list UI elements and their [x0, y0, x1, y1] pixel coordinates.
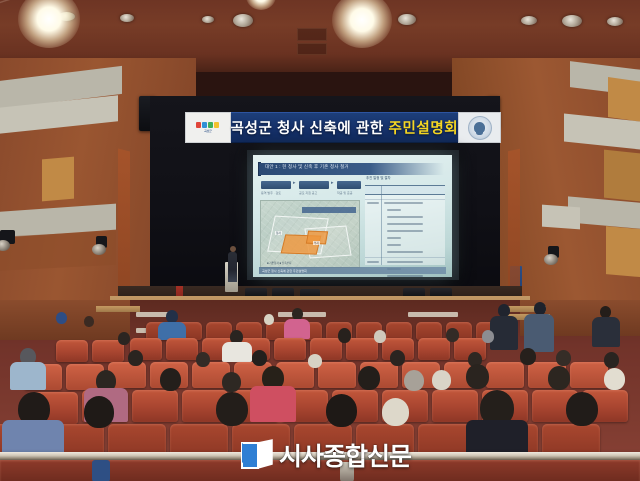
ceiling-vent: [297, 28, 327, 41]
aisle-step: [96, 306, 140, 312]
accent-panel: [608, 77, 640, 123]
table-row: [387, 209, 401, 211]
event-banner: 곡성군 곡성군 청사 신축에 관한 주민설명회: [185, 112, 501, 143]
seat[interactable]: [318, 362, 356, 388]
audience-head: [216, 392, 248, 426]
audience-head: [404, 370, 424, 391]
acoustic-panel: [542, 205, 580, 230]
slide-footer-text: 곡성군 청사 신축에 관한 주민설명회: [262, 269, 307, 273]
seat[interactable]: [274, 338, 306, 360]
ceiling-downlight: [398, 14, 416, 25]
audience-head: [520, 348, 536, 365]
flow-step-box: [299, 181, 329, 189]
wall-light-fixture: [96, 236, 107, 248]
flow-step-box: [337, 181, 361, 189]
audience-shoulders: [92, 460, 110, 481]
audience-head: [604, 352, 619, 368]
audience-head: [482, 330, 494, 343]
flow-step-caption: 착공 및 준공: [337, 191, 352, 195]
table-row: [387, 216, 423, 218]
table-caption: 추진 일정 및 절차: [366, 175, 391, 180]
audience-head: [84, 316, 94, 327]
audience-head: [446, 328, 459, 342]
table-row: [387, 275, 423, 277]
audience-head: [196, 352, 210, 367]
logo-color-blocks: [196, 122, 219, 128]
audience-head: [382, 398, 409, 426]
open-book-icon: [240, 439, 274, 471]
flow-arrow-icon: ▸: [293, 181, 296, 186]
schedule-table: [365, 185, 445, 265]
flow-arrow-icon: ▸: [331, 181, 334, 186]
audience-head: [338, 328, 351, 343]
seat[interactable]: [418, 338, 450, 360]
audience-head: [604, 368, 625, 390]
wall-light-fixture: [548, 246, 559, 258]
table-row: [387, 244, 401, 246]
audience-head: [548, 366, 570, 390]
map-banner-label: [302, 207, 356, 213]
audience-head: [326, 394, 357, 427]
map-label: 부지: [313, 241, 320, 245]
table-row: [387, 223, 423, 225]
seat[interactable]: [346, 338, 378, 360]
flow-step-caption: 공모 지침 공고: [299, 191, 317, 195]
audience-head: [390, 350, 405, 366]
site-plan-aerial: 청사 부지 ■ 기존청사 ■ 신축부지: [260, 200, 360, 268]
auditorium-photo: 곡성군 곡성군 청사 신축에 관한 주민설명회 대안 1 : 현 청사 및 신축…: [0, 0, 640, 481]
map-label: 청사: [275, 231, 282, 235]
ceiling-vent: [297, 43, 327, 55]
ceiling-downlight: [521, 16, 537, 25]
table-row-divider: [365, 199, 445, 200]
seat[interactable]: [570, 362, 608, 388]
audience-head: [358, 366, 380, 390]
audience-head: [56, 312, 67, 324]
audience-head: [308, 354, 322, 368]
audience-head: [84, 396, 114, 428]
accent-panel: [604, 150, 640, 203]
ceiling-downlight: [202, 16, 214, 23]
banner-text-area: 곡성군 청사 신축에 관한 주민설명회: [231, 112, 459, 143]
audience-shoulders: [10, 362, 46, 390]
audience-head: [556, 350, 571, 366]
audience-head: [128, 350, 143, 366]
audience-head: [374, 330, 386, 343]
wall-sign: [408, 312, 458, 317]
watermark-text: 시사종합신문: [279, 437, 411, 473]
audience-head: [264, 314, 274, 325]
flow-step-box: [261, 181, 291, 189]
audience-shoulders: [222, 342, 252, 362]
audience-head: [222, 372, 241, 392]
county-brand-logo: 곡성군: [185, 112, 231, 143]
emblem-graphic: [468, 116, 492, 140]
banner-title: 곡성군 청사 신축에 관한 주민설명회: [231, 117, 459, 138]
audience-head: [566, 392, 598, 426]
audience-head: [252, 350, 267, 366]
seat[interactable]: [56, 340, 88, 362]
audience-shoulders: [592, 317, 620, 347]
flow-step-caption: 용역 발주 · 검토: [261, 191, 281, 195]
audience-shoulders: [490, 316, 518, 350]
seat[interactable]: [166, 338, 198, 360]
seat[interactable]: [432, 390, 478, 422]
table-column-divider: [381, 185, 382, 265]
table-row: [387, 237, 401, 239]
table-row: [387, 230, 423, 232]
accent-panel: [42, 157, 74, 202]
county-emblem: [458, 112, 501, 143]
ceiling-downlight: [120, 14, 134, 22]
banner-title-highlight: 주민설명회: [389, 121, 459, 137]
ceiling-downlight: [562, 15, 582, 27]
projection-screen: 대안 1 : 현 청사 및 신축 후 기존 청사 철거 용역 발주 · 검토 ▸…: [253, 155, 452, 277]
audience-shoulders: [284, 319, 310, 339]
ceiling-downlight: [607, 17, 623, 26]
presenter: [228, 252, 237, 282]
accent-panel: [606, 226, 640, 278]
table-row: [387, 261, 423, 263]
audience-head: [160, 368, 181, 391]
audience-head: [432, 370, 451, 390]
audience-head: [466, 364, 489, 389]
table-row-divider: [365, 257, 445, 258]
audience-head: [118, 332, 130, 345]
table-row: [384, 202, 423, 204]
ceiling-downlight: [233, 14, 253, 27]
wall-light-fixture: [0, 230, 15, 244]
logo-caption: 곡성군: [204, 129, 212, 133]
seat[interactable]: [486, 362, 524, 388]
audience-shoulders: [250, 386, 296, 422]
map-legend: ■ 기존청사 ■ 신축부지: [267, 261, 291, 265]
presenter-head: [230, 246, 236, 252]
watermark: 시사종합신문: [240, 437, 411, 473]
table-header-row: [365, 185, 445, 195]
table-row: [387, 251, 423, 253]
audience-shoulders: [524, 314, 554, 352]
open-book-logo: [240, 439, 274, 471]
banner-title-main: 곡성군 청사 신축에 관한: [231, 121, 389, 137]
seat[interactable]: [132, 390, 178, 422]
table-row: [367, 261, 379, 263]
table-row: [367, 202, 379, 204]
slide-title-text: 대안 1 : 현 청사 및 신축 후 기존 청사 철거: [265, 164, 349, 170]
